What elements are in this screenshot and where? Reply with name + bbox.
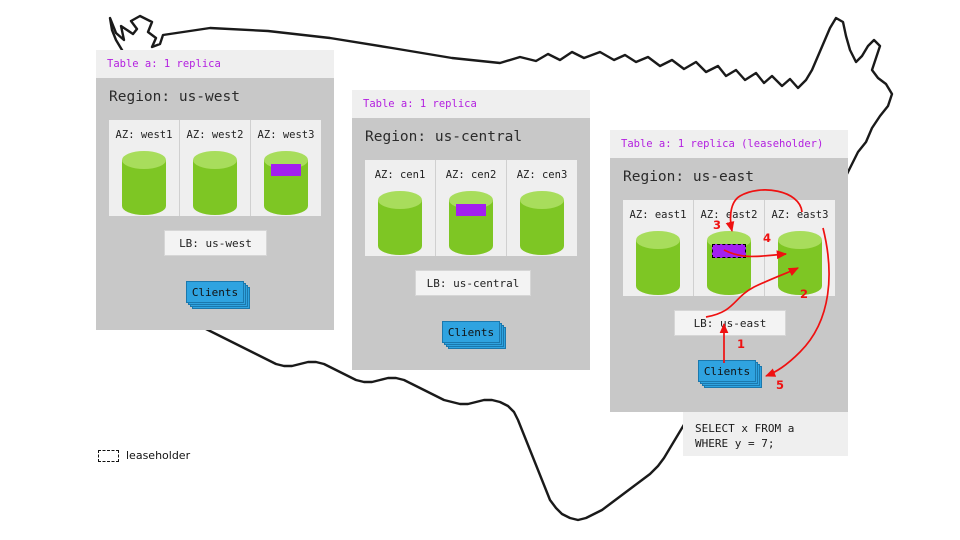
clients-sheet-front: Clients xyxy=(698,360,756,382)
cylinder-cen2 xyxy=(447,190,495,256)
cylinder-cen3 xyxy=(518,190,566,256)
cylinder-cen1 xyxy=(376,190,424,256)
replica-block-west3 xyxy=(271,164,301,176)
clients-label: Clients xyxy=(704,365,750,378)
az-cen1[interactable]: AZ: cen1 xyxy=(365,160,436,256)
az-east2[interactable]: AZ: east2 xyxy=(694,200,765,296)
region-panel-us-central[interactable]: Table a: 1 replica Region: us-central AZ… xyxy=(352,90,590,370)
cylinder-west3 xyxy=(262,150,310,216)
az-strip-us-west: AZ: west1 AZ: west2 AZ: xyxy=(109,120,321,216)
legend: leaseholder xyxy=(98,449,190,462)
az-label: AZ: east2 xyxy=(694,200,764,221)
arrow-number-2: 2 xyxy=(800,287,808,301)
az-label: AZ: west2 xyxy=(180,120,250,141)
load-balancer-us-east[interactable]: LB: us-east xyxy=(674,310,786,336)
az-label: AZ: east1 xyxy=(623,200,693,221)
az-cen3[interactable]: AZ: cen3 xyxy=(507,160,577,256)
az-label: AZ: cen1 xyxy=(365,160,435,181)
cylinder-west1 xyxy=(120,150,168,216)
az-label: AZ: east3 xyxy=(765,200,835,221)
az-label: AZ: west3 xyxy=(251,120,321,141)
cylinder-east2 xyxy=(705,230,753,296)
arrow-number-5: 5 xyxy=(776,378,784,392)
az-label: AZ: cen3 xyxy=(507,160,577,181)
az-strip-us-east: AZ: east1 AZ: east2 xyxy=(623,200,835,296)
leaseholder-block-east2 xyxy=(712,244,746,258)
clients-us-east[interactable]: Clients xyxy=(698,360,760,384)
cylinder-east1 xyxy=(634,230,682,296)
region-title: Region: us-east xyxy=(610,158,848,194)
az-east3[interactable]: AZ: east3 xyxy=(765,200,835,296)
arrow-number-3: 3 xyxy=(713,218,721,232)
az-west2[interactable]: AZ: west2 xyxy=(180,120,251,216)
clients-label: Clients xyxy=(192,286,238,299)
lb-label: LB: us-east xyxy=(694,317,767,330)
az-strip-us-central: AZ: cen1 AZ: cen2 xyxy=(365,160,577,256)
sql-query-box: SELECT x FROM a WHERE y = 7; xyxy=(683,412,848,456)
region-replica-header: Table a: 1 replica xyxy=(352,90,590,118)
az-cen2[interactable]: AZ: cen2 xyxy=(436,160,507,256)
load-balancer-us-west[interactable]: LB: us-west xyxy=(164,230,267,256)
az-label: AZ: cen2 xyxy=(436,160,506,181)
lb-label: LB: us-west xyxy=(179,237,252,250)
clients-sheet-front: Clients xyxy=(186,281,244,303)
az-east1[interactable]: AZ: east1 xyxy=(623,200,694,296)
load-balancer-us-central[interactable]: LB: us-central xyxy=(415,270,531,296)
az-west1[interactable]: AZ: west1 xyxy=(109,120,180,216)
dashed-rect-leaseholder-swatch xyxy=(98,450,119,462)
arrow-number-4: 4 xyxy=(763,231,771,245)
clients-sheet-front: Clients xyxy=(442,321,500,343)
region-replica-header: Table a: 1 replica xyxy=(96,50,334,78)
clients-us-central[interactable]: Clients xyxy=(442,321,504,345)
region-panel-us-west[interactable]: Table a: 1 replica Region: us-west AZ: w… xyxy=(96,50,334,330)
az-west3[interactable]: AZ: west3 xyxy=(251,120,321,216)
region-panel-us-east[interactable]: Table a: 1 replica (leaseholder) Region:… xyxy=(610,130,848,412)
region-title: Region: us-west xyxy=(96,78,334,114)
clients-us-west[interactable]: Clients xyxy=(186,281,248,305)
region-title: Region: us-central xyxy=(352,118,590,154)
clients-label: Clients xyxy=(448,326,494,339)
replica-block-cen2 xyxy=(456,204,486,216)
arrow-number-1: 1 xyxy=(737,337,745,351)
az-label: AZ: west1 xyxy=(109,120,179,141)
cylinder-west2 xyxy=(191,150,239,216)
lb-label: LB: us-central xyxy=(427,277,520,290)
diagram-canvas: Table a: 1 replica Region: us-west AZ: w… xyxy=(0,0,960,540)
legend-label: leaseholder xyxy=(126,449,190,462)
region-replica-header: Table a: 1 replica (leaseholder) xyxy=(610,130,848,158)
